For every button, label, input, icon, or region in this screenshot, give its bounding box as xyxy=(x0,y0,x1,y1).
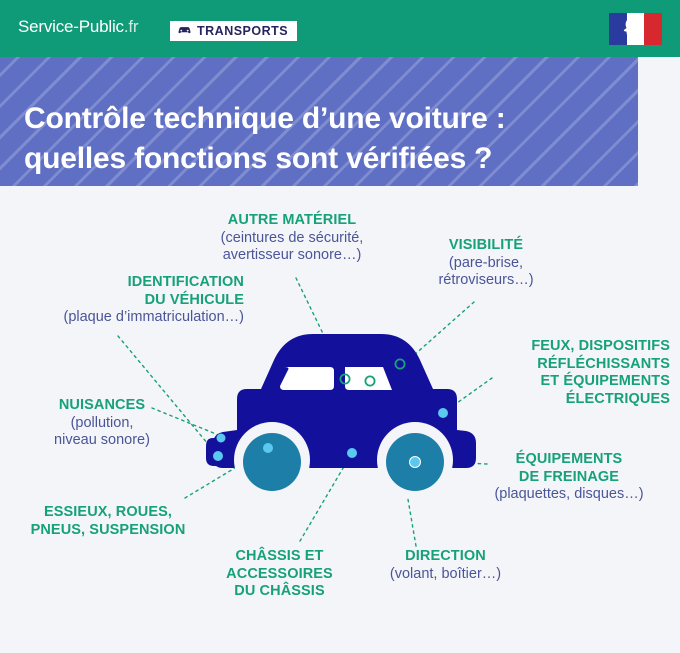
brand-logo[interactable]: Service-Public.fr xyxy=(18,17,138,37)
label-sub-line: (pollution, xyxy=(12,415,192,433)
marker-chassis xyxy=(347,448,357,458)
label-sub-line: rétroviseurs…) xyxy=(406,272,566,290)
label-equipements-de-freinage: ÉQUIPEMENTS DE FREINAGE (plaquettes, dis… xyxy=(464,451,674,504)
label-direction: DIRECTION (volant, boîtier…) xyxy=(358,548,533,583)
label-title-line: DU VÉHICULE xyxy=(4,292,244,310)
label-nuisances: NUISANCES (pollution, niveau sonore) xyxy=(12,397,192,450)
title-line-1: Contrôle technique d’une voiture : xyxy=(24,99,624,139)
label-title-line: ÉLECTRIQUES xyxy=(420,391,670,409)
label-title-line: PNEUS, SUSPENSION xyxy=(8,522,208,540)
marker-essieux xyxy=(263,443,273,453)
label-sub-line: avertisseur sonore…) xyxy=(182,247,402,265)
label-sub-line: (plaque d’immatriculation…) xyxy=(4,309,244,327)
site-header: Service-Public.fr TRANSPORTS xyxy=(0,0,680,57)
label-title-line: ÉQUIPEMENTS xyxy=(464,451,674,469)
label-title-line: DU CHÂSSIS xyxy=(192,583,367,601)
label-title-line: FEUX, DISPOSITIFS xyxy=(420,338,670,356)
infographic-root: Service-Public.fr TRANSPORTS xyxy=(0,0,680,653)
brand-domain-suffix: .fr xyxy=(124,17,139,36)
label-essieux-roues-pneus-suspension: ESSIEUX, ROUES, PNEUS, SUSPENSION xyxy=(8,504,208,539)
title-line-2: quelles fonctions sont vérifiées ? xyxy=(24,139,624,179)
label-title-line: CHÂSSIS ET xyxy=(192,548,367,566)
label-sub-line: (volant, boîtier…) xyxy=(358,566,533,584)
marker-feux xyxy=(438,408,448,418)
french-republic-flag-icon xyxy=(609,13,662,45)
label-title-line: NUISANCES xyxy=(12,397,192,415)
label-sub-line: (pare-brise, xyxy=(406,255,566,273)
title-banner: Contrôle technique d’une voiture : quell… xyxy=(0,57,638,186)
flag-band-white xyxy=(627,13,645,45)
label-autre-materiel: AUTRE MATÉRIEL (ceintures de sécurité, a… xyxy=(182,212,402,265)
front-wheel xyxy=(243,433,301,491)
marker-nuisances xyxy=(217,434,226,443)
label-title-line: DE FREINAGE xyxy=(464,469,674,487)
label-title-line: VISIBILITÉ xyxy=(406,237,566,255)
label-sub-line: (plaquettes, disques…) xyxy=(464,486,674,504)
label-sub-line: (ceintures de sécurité, xyxy=(182,230,402,248)
label-title-line: RÉFLÉCHISSANTS xyxy=(420,356,670,374)
label-title-line: DIRECTION xyxy=(358,548,533,566)
label-chassis-et-accessoires: CHÂSSIS ET ACCESSOIRES DU CHÂSSIS xyxy=(192,548,367,601)
marianne-profile-icon xyxy=(618,15,648,43)
label-title-line: ET ÉQUIPEMENTS xyxy=(420,373,670,391)
transports-badge-label: TRANSPORTS xyxy=(197,25,288,38)
label-identification-du-vehicule: IDENTIFICATION DU VÉHICULE (plaque d’imm… xyxy=(4,274,244,327)
transports-badge[interactable]: TRANSPORTS xyxy=(170,21,297,41)
label-title-line: ESSIEUX, ROUES, xyxy=(8,504,208,522)
label-feux-dispositifs-reflechissants: FEUX, DISPOSITIFS RÉFLÉCHISSANTS ET ÉQUI… xyxy=(420,338,670,409)
label-title-line: ACCESSOIRES xyxy=(192,566,367,584)
illustration-canvas: IDENTIFICATION DU VÉHICULE (plaque d’imm… xyxy=(0,186,680,653)
side-window xyxy=(280,367,334,390)
page-title: Contrôle technique d’une voiture : quell… xyxy=(24,99,624,179)
brand-name: Service-Public xyxy=(18,17,124,36)
car-icon xyxy=(177,22,192,40)
marker-freinage xyxy=(410,457,420,467)
label-title-line: AUTRE MATÉRIEL xyxy=(182,212,402,230)
label-sub-line: niveau sonore) xyxy=(12,432,192,450)
marker-identification xyxy=(213,451,223,461)
label-visibilite: VISIBILITÉ (pare-brise, rétroviseurs…) xyxy=(406,237,566,290)
label-title-line: IDENTIFICATION xyxy=(4,274,244,292)
